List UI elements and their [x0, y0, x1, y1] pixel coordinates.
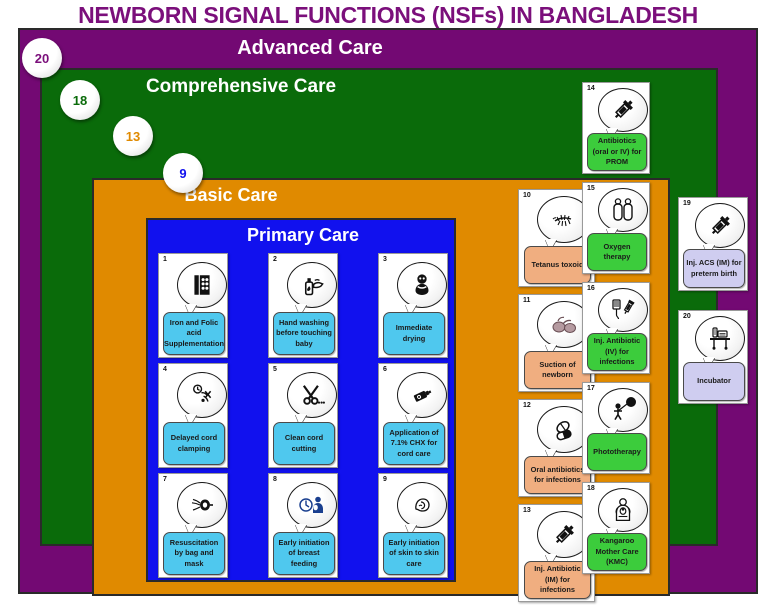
nsf-card-number: 15: [587, 185, 595, 192]
nsf-card-4[interactable]: 4 Delayed cord clamping: [158, 363, 228, 468]
bag-mask-icon: [177, 482, 227, 528]
skin-to-skin-icon: [397, 482, 447, 528]
nsf-card-number: 9: [383, 476, 387, 483]
nsf-card-label: Hand washing before touching baby: [273, 312, 335, 355]
oxygen-cylinder-icon: [598, 188, 648, 232]
kangaroo-mother-icon: [598, 488, 648, 532]
care-level-primary: Primary Care 1 Iron and Folic acid Suppl…: [146, 218, 456, 582]
nsf-card-label: Suction of newborn: [524, 351, 591, 389]
nsf-card-label: Early initiation of skin to skin care: [383, 532, 445, 575]
nsf-card-label: Inj. Antibiotic (IV) for infections: [587, 333, 647, 371]
level-badge-primary: 9: [163, 153, 203, 193]
clock-cord-clamp-icon: [177, 372, 227, 418]
nsf-card-number: 12: [523, 402, 531, 409]
nsf-card-number: 20: [683, 313, 691, 320]
nsf-card-15[interactable]: 15 Oxygen therapy: [582, 182, 650, 274]
nsf-card-20[interactable]: 20 Incubator: [678, 310, 748, 404]
nsf-card-label: Iron and Folic acid Supplementation: [163, 312, 225, 355]
nsf-card-16[interactable]: 16 Inj. Antibiotic (IV) for infections: [582, 282, 650, 374]
nsf-card-1[interactable]: 1 Iron and Folic acid Supplementation: [158, 253, 228, 358]
nsf-card-label: Delayed cord clamping: [163, 422, 225, 465]
swaddled-baby-icon: [397, 262, 447, 308]
nsf-card-number: 14: [587, 85, 595, 92]
syringe-icon: [695, 203, 745, 248]
syringe-icon: [598, 88, 648, 132]
level-badge-advanced: 20: [22, 38, 62, 78]
phototherapy-lamp-icon: [598, 388, 648, 432]
tablet-blister-icon: [177, 262, 227, 308]
nsf-card-number: 7: [163, 476, 167, 483]
nsf-card-label: Application of 7.1% CHX for cord care: [383, 422, 445, 465]
nsf-card-number: 4: [163, 366, 167, 373]
nsf-card-label: Antibiotics (oral or IV) for PROM: [587, 133, 647, 171]
nsf-card-number: 19: [683, 200, 691, 207]
nsf-card-label: Early initiation of breast feeding: [273, 532, 335, 575]
nsf-card-9[interactable]: 9 Early initiation of skin to skin care: [378, 473, 448, 578]
nsf-card-label: Immediate drying: [383, 312, 445, 355]
nsf-card-17[interactable]: 17 Phototherapy: [582, 382, 650, 474]
nsf-card-number: 2: [273, 256, 277, 263]
hand-washing-soap-icon: [287, 262, 337, 308]
nsf-card-18[interactable]: 18 Kangaroo Mother Care (KMC): [582, 482, 650, 574]
nsf-card-number: 8: [273, 476, 277, 483]
nsf-card-number: 6: [383, 366, 387, 373]
nsf-card-3[interactable]: 3 Immediate drying: [378, 253, 448, 358]
nsf-card-number: 18: [587, 485, 595, 492]
nsf-card-label: Oxygen therapy: [587, 233, 647, 271]
nsf-card-number: 16: [587, 285, 595, 292]
scissors-icon: [287, 372, 337, 418]
care-level-advanced-title: Advanced Care: [0, 37, 680, 60]
nsf-card-label: Inj. Antibiotic (IM) for infections: [524, 561, 591, 599]
nsf-card-number: 1: [163, 256, 167, 263]
nsf-card-number: 13: [523, 507, 531, 514]
nsf-card-8[interactable]: 8 Early initiation of breast feeding: [268, 473, 338, 578]
nsf-card-5[interactable]: 5 Clean cord cutting: [268, 363, 338, 468]
nsf-card-2[interactable]: 2 Hand washing before touching baby: [268, 253, 338, 358]
nsf-card-19[interactable]: 19 Inj. ACS (IM) for preterm birth: [678, 197, 748, 291]
nsf-card-label: Resuscitation by bag and mask: [163, 532, 225, 575]
iv-drip-syringe-icon: [598, 288, 648, 332]
chlorhexidine-tube-icon: [397, 372, 447, 418]
nsf-card-14[interactable]: 14 Antibiotics (oral or IV) for PROM: [582, 82, 650, 174]
nsf-card-label: Clean cord cutting: [273, 422, 335, 465]
nsf-card-number: 10: [523, 192, 531, 199]
page-title: NEWBORN SIGNAL FUNCTIONS (NSFs) IN BANGL…: [0, 2, 776, 29]
nsf-card-label: Phototherapy: [587, 433, 647, 471]
clock-breastfeeding-icon: [287, 482, 337, 528]
level-badge-basic: 13: [113, 116, 153, 156]
nsf-card-label: Tetanus toxoid: [524, 246, 591, 284]
nsf-card-6[interactable]: 6 Application of 7.1% CHX for cord care: [378, 363, 448, 468]
nsf-card-7[interactable]: 7 Resuscitation by bag and mask: [158, 473, 228, 578]
nsf-diagram: NEWBORN SIGNAL FUNCTIONS (NSFs) IN BANGL…: [0, 0, 776, 605]
nsf-card-label: Incubator: [683, 362, 745, 401]
nsf-card-label: Oral antibiotics for infections: [524, 456, 591, 494]
nsf-card-label: Inj. ACS (IM) for preterm birth: [683, 249, 745, 288]
nsf-card-number: 5: [273, 366, 277, 373]
nsf-card-number: 11: [523, 297, 530, 304]
care-level-basic-title: Basic Care: [0, 185, 520, 206]
nsf-card-label: Kangaroo Mother Care (KMC): [587, 533, 647, 571]
nsf-card-number: 3: [383, 256, 387, 263]
care-level-primary-title: Primary Care: [148, 225, 458, 246]
incubator-icon: [695, 316, 745, 361]
nsf-card-number: 17: [587, 385, 595, 392]
level-badge-comprehensive: 18: [60, 80, 100, 120]
